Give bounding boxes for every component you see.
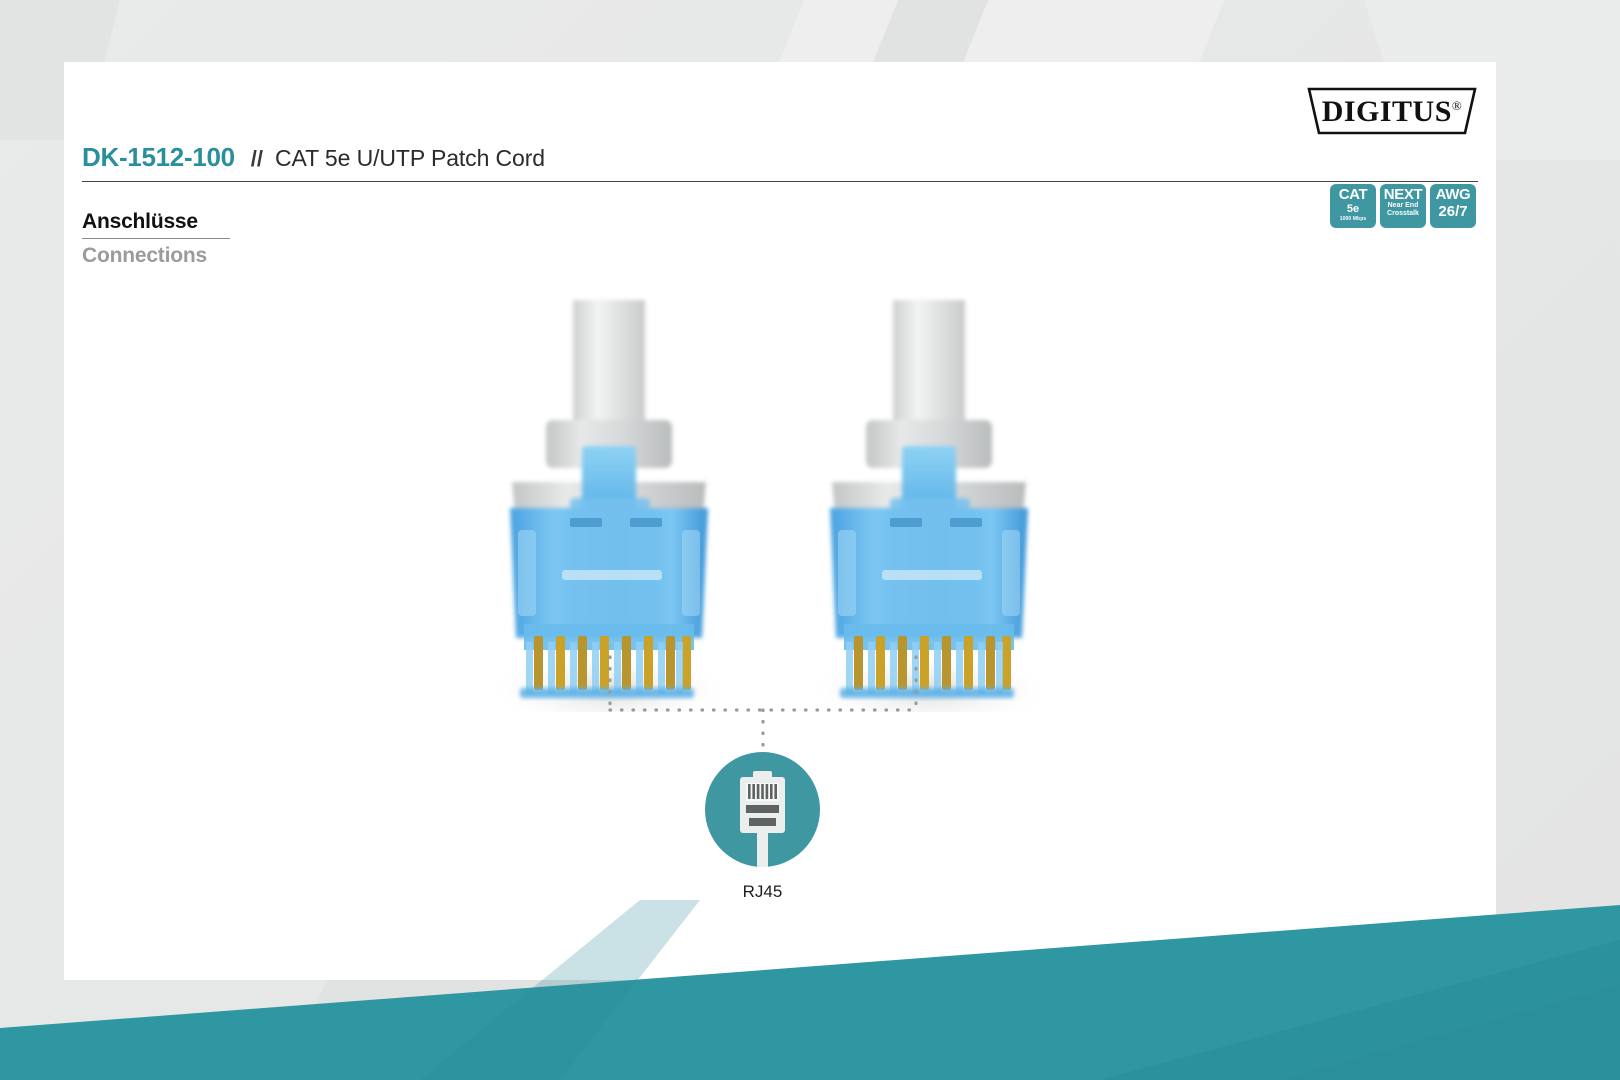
next-badge-sub-line1: Near End xyxy=(1388,202,1419,210)
registered-mark-icon: ® xyxy=(1452,98,1462,113)
cat-badge: CAT 5e 1000 Mbps xyxy=(1330,184,1376,228)
awg-badge-title: AWG xyxy=(1436,187,1471,202)
awg-badge: AWG 26/7 xyxy=(1430,184,1476,228)
digitus-logo: DIGITUS® xyxy=(1306,86,1478,136)
slide-canvas: DIGITUS® DK-1512-100 // CAT 5e U/UTP Pat… xyxy=(0,0,1620,1080)
rj45-plug-right xyxy=(799,300,1059,712)
title-line: DK-1512-100 // CAT 5e U/UTP Patch Cord xyxy=(82,142,1478,181)
cat-badge-speed: 1000 Mbps xyxy=(1340,216,1366,223)
rj45-plug-left xyxy=(479,300,739,712)
title-row: DK-1512-100 // CAT 5e U/UTP Patch Cord xyxy=(82,142,1478,182)
logo-wordmark: DIGITUS® xyxy=(1306,95,1478,129)
rj45-icon xyxy=(705,752,820,867)
awg-badge-value: 26/7 xyxy=(1438,203,1467,220)
product-name: CAT 5e U/UTP Patch Cord xyxy=(275,145,545,172)
section-heading-underline xyxy=(82,238,230,239)
feature-badge-group: CAT 5e 1000 Mbps NEXT Near End Crosstalk… xyxy=(1330,184,1476,228)
page-sheet: DIGITUS® DK-1512-100 // CAT 5e U/UTP Pat… xyxy=(64,62,1496,980)
next-badge-sub-line2: Crosstalk xyxy=(1387,210,1419,218)
next-badge: NEXT Near End Crosstalk xyxy=(1380,184,1426,228)
cat-badge-title: CAT xyxy=(1339,187,1368,202)
product-photo xyxy=(64,242,1496,712)
rj45-connector-label: RJ45 xyxy=(665,882,860,902)
logo-name-text: DIGITUS xyxy=(1322,95,1452,128)
rj45-icon-glyph xyxy=(705,752,820,867)
cat-badge-category: 5e xyxy=(1347,203,1359,215)
title-divider xyxy=(82,181,1478,182)
product-sku: DK-1512-100 xyxy=(82,142,235,173)
section-heading-de: Anschlüsse xyxy=(82,210,230,238)
title-separator: // xyxy=(251,146,263,172)
teal-wedge-accent-2 xyxy=(1280,985,1620,1080)
next-badge-title: NEXT xyxy=(1384,187,1422,202)
